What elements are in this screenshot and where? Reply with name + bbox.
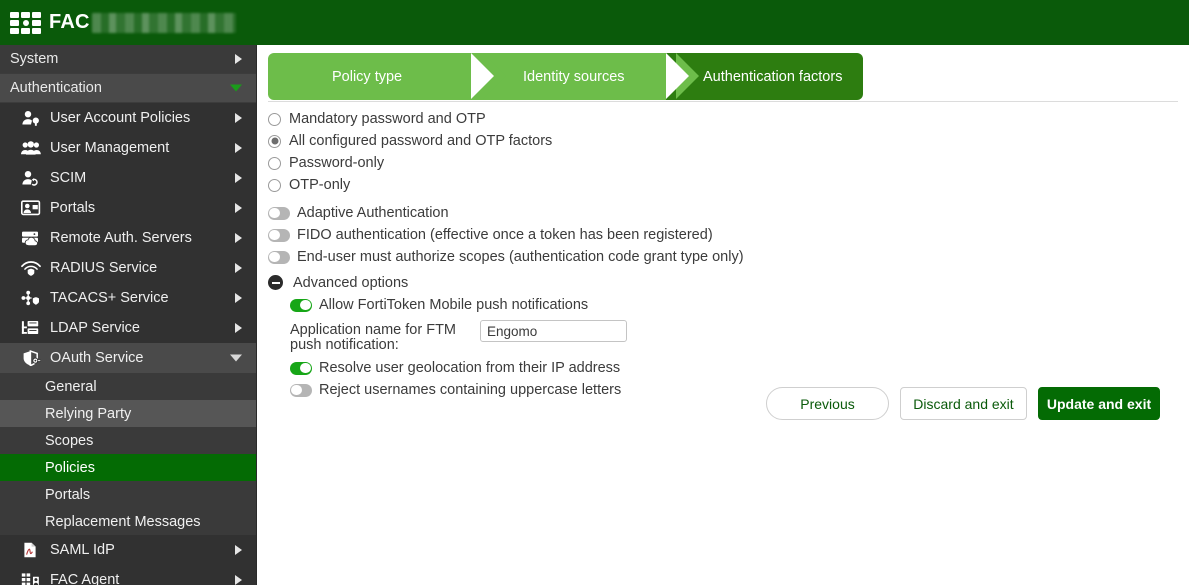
user-sync-icon <box>20 169 42 187</box>
ftm-app-name-row: Application name for FTM push notificati… <box>290 320 1178 353</box>
toggle-label: Resolve user geolocation from their IP a… <box>319 360 620 376</box>
sidebar-item-saml-idp[interactable]: SAML IdP <box>0 535 256 565</box>
radio-option-password-only[interactable]: Password-only <box>268 152 1178 174</box>
chevron-right-icon <box>235 54 242 64</box>
advanced-options-header[interactable]: Advanced options <box>268 271 1178 294</box>
fac-agent-icon <box>20 571 42 585</box>
toggle-label: Adaptive Authentication <box>297 205 449 221</box>
server-cloud-icon <box>20 229 42 247</box>
toggle-switch-off-icon[interactable] <box>268 207 290 220</box>
sidebar-subitem-label: Scopes <box>45 433 93 449</box>
sidebar-item-label: Portals <box>50 200 95 216</box>
radius-shield-icon <box>20 259 42 277</box>
tacacs-shield-icon <box>20 289 42 307</box>
chevron-right-icon <box>235 143 242 153</box>
app-header: FAC <box>0 0 1189 45</box>
oauth-submenu: General Relying Party Scopes Policies Po… <box>0 373 256 535</box>
chevron-right-icon <box>235 203 242 213</box>
chevron-right-icon <box>235 545 242 555</box>
sidebar-subitem-general[interactable]: General <box>0 373 256 400</box>
ldap-tree-icon <box>20 319 42 337</box>
auth-factors-form: Mandatory password and OTP All configure… <box>268 108 1178 401</box>
sidebar-item-label: SCIM <box>50 170 86 186</box>
toggle-switch-off-icon[interactable] <box>290 384 312 397</box>
toggle-label: End-user must authorize scopes (authenti… <box>297 249 744 265</box>
toggle-end-user-authorize-scopes[interactable]: End-user must authorize scopes (authenti… <box>268 246 1178 268</box>
main-content: Policy type Identity sources Authenticat… <box>258 45 1189 585</box>
toggle-switch-off-icon[interactable] <box>268 251 290 264</box>
saml-document-icon <box>20 541 42 559</box>
sidebar-item-user-account-policies[interactable]: User Account Policies <box>0 103 256 133</box>
toggle-switch-off-icon[interactable] <box>268 229 290 242</box>
chevron-down-icon <box>230 355 242 362</box>
toggle-switch-on-icon[interactable] <box>290 362 312 375</box>
sidebar-subitem-label: Policies <box>45 460 95 476</box>
sidebar-item-authentication[interactable]: Authentication <box>0 74 256 103</box>
sidebar-subitem-replacement-messages[interactable]: Replacement Messages <box>0 508 256 535</box>
sidebar-item-user-management[interactable]: User Management <box>0 133 256 163</box>
sidebar-item-label: Authentication <box>10 80 102 96</box>
discard-and-exit-button[interactable]: Discard and exit <box>900 387 1027 420</box>
sidebar-item-label: TACACS+ Service <box>50 290 169 306</box>
radio-label: OTP-only <box>289 177 350 193</box>
sidebar-item-ldap-service[interactable]: LDAP Service <box>0 313 256 343</box>
sidebar-item-label: LDAP Service <box>50 320 140 336</box>
sidebar-item-oauth-service[interactable]: OAuth Service <box>0 343 256 373</box>
users-icon <box>20 139 42 157</box>
radio-option-otp-only[interactable]: OTP-only <box>268 174 1178 196</box>
sidebar-item-system[interactable]: System <box>0 45 256 74</box>
wizard-step-policy-type[interactable]: Policy type <box>268 53 483 100</box>
sidebar-subitem-label: General <box>45 379 97 395</box>
chevron-down-icon <box>230 85 242 92</box>
sidebar-item-label: User Management <box>50 140 169 156</box>
radio-icon[interactable] <box>268 179 281 192</box>
radio-label: All configured password and OTP factors <box>289 133 552 149</box>
sidebar-subitem-policies[interactable]: Policies <box>0 454 256 481</box>
wizard-step-label: Policy type <box>332 69 402 85</box>
advanced-options-label: Advanced options <box>293 275 408 291</box>
redacted-hostname <box>92 13 236 33</box>
sidebar-subitem-relying-party[interactable]: Relying Party <box>0 400 256 427</box>
chevron-right-icon <box>235 323 242 333</box>
sidebar[interactable]: System Authentication User Account Polic… <box>0 45 257 585</box>
previous-button[interactable]: Previous <box>766 387 889 420</box>
sidebar-item-label: SAML IdP <box>50 542 115 558</box>
radio-icon[interactable] <box>268 157 281 170</box>
form-actions: Previous Discard and exit Update and exi… <box>766 387 1160 420</box>
chevron-right-icon <box>235 233 242 243</box>
chevron-right-icon <box>235 575 242 585</box>
brand-title: FAC <box>49 11 236 34</box>
user-gear-icon <box>20 109 42 127</box>
sidebar-subitem-label: Replacement Messages <box>45 514 201 530</box>
chevron-right-icon <box>235 113 242 123</box>
sidebar-item-label: RADIUS Service <box>50 260 157 276</box>
advanced-options-body: Allow FortiToken Mobile push notificatio… <box>268 294 1178 401</box>
sidebar-item-label: Remote Auth. Servers <box>50 230 192 246</box>
oauth-shield-key-icon <box>20 349 42 367</box>
sidebar-item-label: User Account Policies <box>50 110 190 126</box>
toggle-fido-authentication[interactable]: FIDO authentication (effective once a to… <box>268 224 1178 246</box>
sidebar-subitem-label: Portals <box>45 487 90 503</box>
wizard-step-label: Identity sources <box>523 69 625 85</box>
sidebar-item-label: OAuth Service <box>50 350 144 366</box>
portal-icon <box>20 199 42 217</box>
chevron-right-icon <box>235 293 242 303</box>
sidebar-subitem-label: Relying Party <box>45 406 131 422</box>
ftm-app-name-input[interactable] <box>480 320 627 342</box>
sidebar-item-label: System <box>10 51 58 67</box>
toggle-label: FIDO authentication (effective once a to… <box>297 227 713 243</box>
sidebar-subitem-scopes[interactable]: Scopes <box>0 427 256 454</box>
radio-icon-selected[interactable] <box>268 135 281 148</box>
sidebar-item-label: FAC Agent <box>50 572 119 585</box>
sidebar-item-radius-service[interactable]: RADIUS Service <box>0 253 256 283</box>
radio-label: Mandatory password and OTP <box>289 111 486 127</box>
minus-circle-icon[interactable] <box>268 275 283 290</box>
update-and-exit-button[interactable]: Update and exit <box>1038 387 1160 420</box>
wizard-divider <box>268 101 1178 102</box>
sidebar-item-tacacs-service[interactable]: TACACS+ Service <box>0 283 256 313</box>
radio-label: Password-only <box>289 155 384 171</box>
radio-icon[interactable] <box>268 113 281 126</box>
toggle-label: Allow FortiToken Mobile push notificatio… <box>319 297 588 313</box>
sidebar-item-portals[interactable]: Portals <box>0 193 256 223</box>
radio-option-mandatory-password-otp[interactable]: Mandatory password and OTP <box>268 108 1178 130</box>
sidebar-subitem-portals[interactable]: Portals <box>0 481 256 508</box>
chevron-right-icon <box>235 263 242 273</box>
ftm-app-name-label: Application name for FTM push notificati… <box>290 320 480 353</box>
toggle-resolve-user-geolocation[interactable]: Resolve user geolocation from their IP a… <box>290 357 1178 379</box>
sidebar-item-remote-auth-servers[interactable]: Remote Auth. Servers <box>0 223 256 253</box>
chevron-right-icon <box>235 173 242 183</box>
radio-option-all-configured-factors[interactable]: All configured password and OTP factors <box>268 130 1178 152</box>
wizard-step-label: Authentication factors <box>703 69 842 85</box>
toggle-label: Reject usernames containing uppercase le… <box>319 382 621 398</box>
sidebar-item-scim[interactable]: SCIM <box>0 163 256 193</box>
toggle-fortitoken-push-notifications[interactable]: Allow FortiToken Mobile push notificatio… <box>290 294 1178 316</box>
sidebar-item-fac-agent[interactable]: FAC Agent <box>0 565 256 585</box>
toggle-adaptive-authentication[interactable]: Adaptive Authentication <box>268 202 1178 224</box>
grid-logo-icon[interactable] <box>10 12 40 34</box>
toggle-switch-on-icon[interactable] <box>290 299 312 312</box>
wizard-steps: Policy type Identity sources Authenticat… <box>268 53 863 100</box>
